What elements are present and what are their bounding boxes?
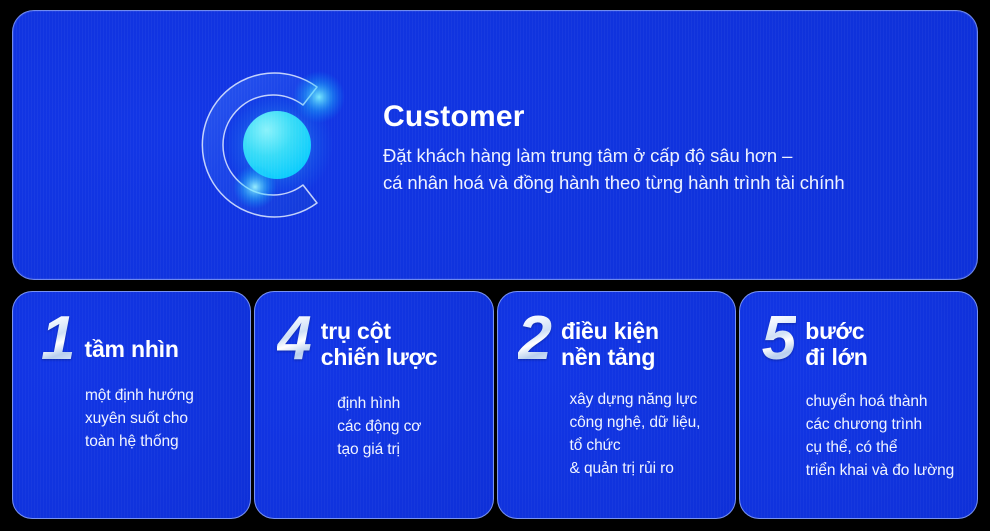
card-4-description: chuyển hoá thành các chương trình cụ thể… <box>806 391 963 483</box>
infographic-root: Customer Đặt khách hàng làm trung tâm ở … <box>0 0 990 531</box>
card-4-label: bước đi lớn <box>805 314 867 371</box>
pillar-card-1: 1 tầm nhìn một định hướng xuyên suốt cho… <box>12 291 251 519</box>
card-3-label: điều kiện nền tảng <box>561 314 659 371</box>
pillar-card-2: 4 trụ cột chiến lược định hình các động … <box>254 291 493 519</box>
card-2-description: định hình các động cơ tạo giá trị <box>337 393 478 462</box>
card-3-description: xây dựng năng lực công nghệ, dữ liệu, tổ… <box>570 389 721 481</box>
card-4-numeral: 5 <box>762 314 796 365</box>
pillar-card-row: 1 tầm nhìn một định hướng xuyên suốt cho… <box>12 291 978 519</box>
card-3-numeral: 2 <box>518 314 552 365</box>
card-1-label: tầm nhìn <box>84 314 178 362</box>
hero-card: Customer Đặt khách hàng làm trung tâm ở … <box>12 10 978 280</box>
card-1-heading: 1 tầm nhìn <box>27 314 236 365</box>
pillar-card-4: 5 bước đi lớn chuyển hoá thành các chươn… <box>739 291 978 519</box>
card-2-heading: 4 trụ cột chiến lược <box>269 314 478 371</box>
hero-subtitle: Đặt khách hàng làm trung tâm ở cấp độ sâ… <box>383 143 845 197</box>
card-3-heading: 2 điều kiện nền tảng <box>512 314 721 371</box>
card-2-numeral: 4 <box>277 314 311 365</box>
card-2-label: trụ cột chiến lược <box>321 314 438 371</box>
hero-title: Customer <box>383 100 845 133</box>
customer-c-ring-icon <box>193 61 361 229</box>
hero-text-block: Customer Đặt khách hàng làm trung tâm ở … <box>383 94 845 197</box>
card-1-numeral: 1 <box>41 314 75 365</box>
card-1-description: một định hướng xuyên suốt cho toàn hệ th… <box>85 385 236 454</box>
pillar-card-3: 2 điều kiện nền tảng xây dựng năng lực c… <box>497 291 736 519</box>
card-4-heading: 5 bước đi lớn <box>754 314 963 371</box>
